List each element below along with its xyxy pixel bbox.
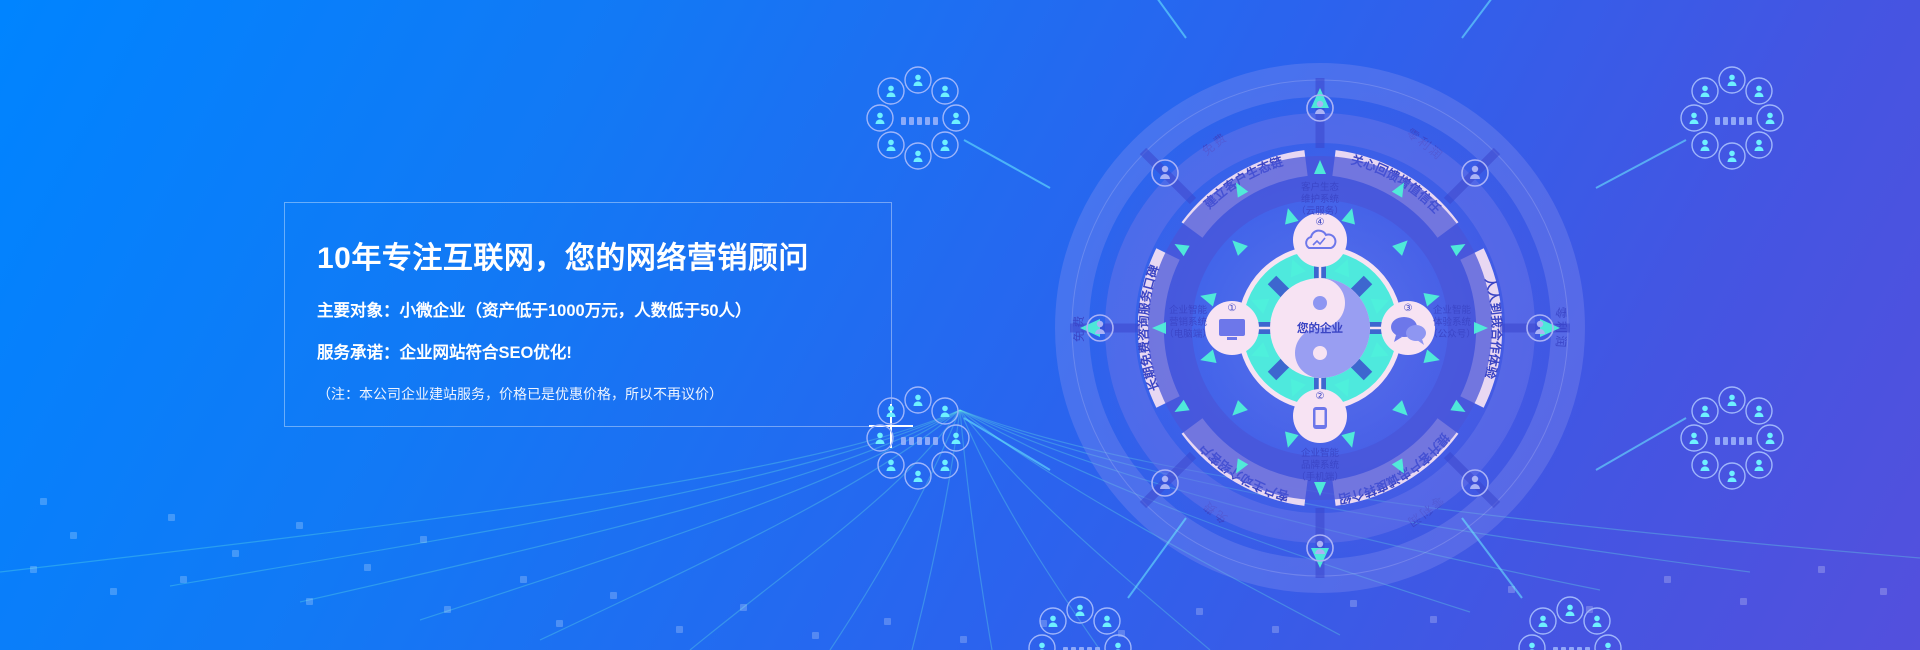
pricing-note: （注：本公司企业建站服务，价格已是优惠价格，所以不再议价）: [317, 386, 891, 403]
customer-cluster-layer: [1010, 18, 1630, 638]
promo-text-panel: 10年专注互联网，您的网络营销顾问 主要对象：小微企业（资产低于1000万元，人…: [284, 202, 892, 427]
cluster-right-lower: [1681, 387, 1783, 489]
cluster-right-upper: [1681, 67, 1783, 169]
hero-banner: 10年专注互联网，您的网络营销顾问 主要对象：小微企业（资产低于1000万元，人…: [0, 0, 1920, 650]
cluster-left-lower: [867, 387, 969, 489]
cluster-link-arrows: [964, 0, 1686, 598]
target-audience-line: 主要对象：小微企业（资产低于1000万元，人数低于50人）: [317, 302, 891, 322]
background-dot-field: [0, 480, 1920, 650]
page-title: 10年专注互联网，您的网络营销顾问: [317, 241, 891, 277]
cluster-bottom-left: [1029, 597, 1131, 650]
cluster-left-upper: [867, 67, 969, 169]
cluster-bottom-right: [1519, 597, 1621, 650]
service-promise-line: 服务承诺：企业网站符合SEO优化!: [317, 344, 891, 364]
